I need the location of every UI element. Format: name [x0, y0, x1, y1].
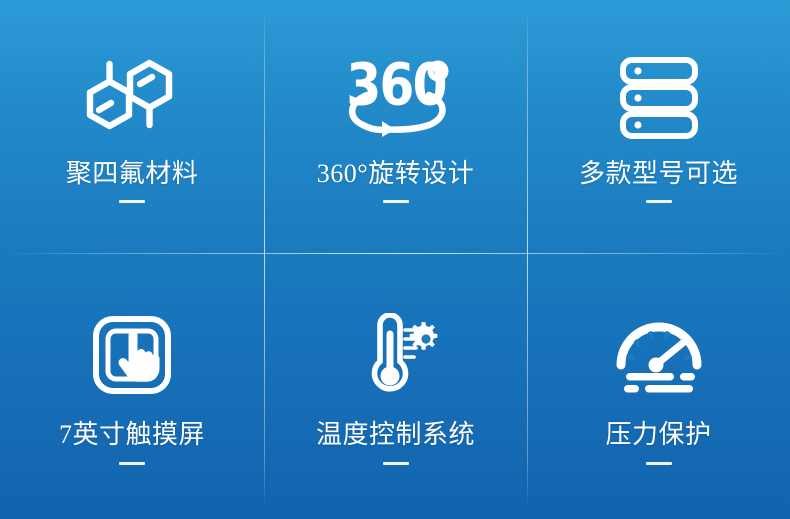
feature-cell-temperature-control[interactable]: 温度控制系统 — [264, 253, 527, 519]
feature-grid-page: 聚四氟材料 360 — [0, 0, 790, 519]
feature-grid: 聚四氟材料 360 — [0, 0, 790, 519]
molecule-icon — [78, 50, 186, 146]
feature-underline — [383, 462, 409, 465]
feature-cell-touchscreen[interactable]: 7英寸触摸屏 — [0, 253, 264, 519]
feature-cell-rotation-design[interactable]: 360 360°旋转设计 — [264, 0, 527, 253]
feature-label: 温度控制系统 — [316, 421, 475, 448]
pressure-gauge-icon — [612, 307, 706, 403]
feature-underline — [119, 200, 145, 203]
feature-label: 聚四氟材料 — [66, 160, 199, 187]
touchscreen-hand-icon — [92, 307, 172, 403]
feature-label: 多款型号可选 — [579, 160, 738, 187]
feature-cell-ptfe-material[interactable]: 聚四氟材料 — [0, 0, 264, 253]
feature-underline — [119, 462, 145, 465]
feature-label: 7英寸触摸屏 — [59, 421, 205, 448]
server-rack-icon — [618, 50, 700, 146]
feature-cell-multiple-models[interactable]: 多款型号可选 — [527, 0, 790, 253]
thermometer-gear-icon — [348, 307, 444, 403]
feature-cell-pressure-protection[interactable]: 压力保护 — [527, 253, 790, 519]
feature-label: 压力保护 — [605, 421, 711, 448]
feature-label: 360°旋转设计 — [317, 160, 474, 187]
feature-underline — [646, 200, 672, 203]
feature-underline — [383, 200, 409, 203]
feature-underline — [646, 462, 672, 465]
360-rotation-icon: 360 — [337, 50, 455, 146]
